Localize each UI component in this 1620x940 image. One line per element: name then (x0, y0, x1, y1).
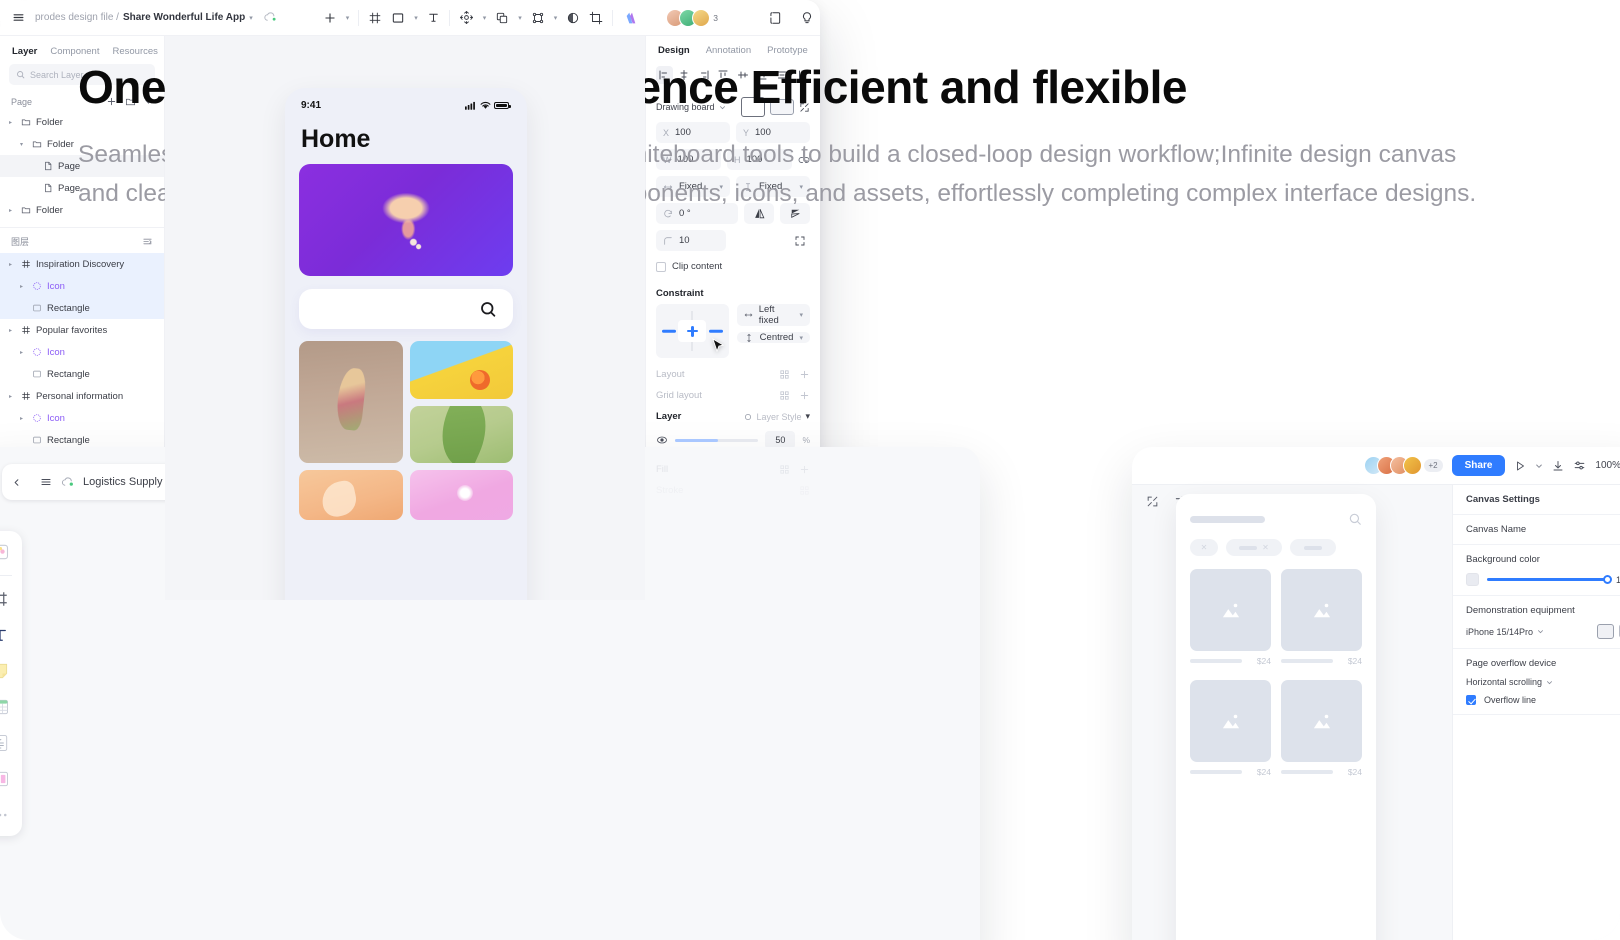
corner-radius-field[interactable]: 10 (656, 230, 726, 251)
chevron-right-icon[interactable]: ▸ (9, 393, 16, 400)
page-icon (43, 183, 53, 193)
page-overflow-label: Page overflow device (1466, 658, 1620, 669)
play-icon[interactable] (1514, 460, 1526, 472)
stroke-label: Stroke (656, 485, 683, 496)
search-icon (1348, 512, 1362, 526)
constraint-vertical-select[interactable]: Centred ▾ (737, 332, 810, 343)
layer-filter-icon[interactable] (142, 236, 153, 247)
text-icon[interactable] (0, 622, 13, 648)
opacity-unit: % (802, 435, 810, 445)
ghost-chip (1290, 539, 1336, 556)
fill-label: Fill (656, 464, 668, 475)
layers-panel-tabs[interactable]: Layer Component Resources (0, 36, 164, 64)
ghost-product-card: $24 (1190, 569, 1271, 670)
fill-row[interactable]: Fill (646, 459, 820, 480)
canvas-name-label: Canvas Name (1466, 524, 1620, 535)
frame-icon (21, 259, 31, 269)
tree-item-label: Rectangle (47, 369, 90, 380)
demonstration-equipment-row: Demonstration equipment iPhone 15/14Pro (1453, 596, 1620, 649)
background-color-row: Background color 100% (1453, 545, 1620, 596)
breadcrumb[interactable]: prodes design file / Share Wonderful Lif… (35, 12, 253, 23)
design-panel-tabs[interactable]: Design Annotation Prototype (646, 36, 820, 64)
chevron-down-icon: ▾ (805, 411, 810, 422)
frame-icon (21, 325, 31, 335)
chevron-down-icon[interactable]: ▾ (554, 14, 558, 22)
photo-tile-peach[interactable] (299, 470, 403, 520)
chevron-down-icon: ▾ (799, 311, 803, 319)
clip-content-row[interactable]: Clip content (646, 257, 820, 280)
tree-item-rectangle[interactable]: Rectangle (0, 297, 164, 319)
search-icon (16, 70, 25, 79)
layers-section-header: 图层 (0, 227, 164, 253)
research-board-toolbar[interactable]: T (0, 531, 22, 836)
overflow-line-checkbox[interactable] (1466, 695, 1476, 705)
device-select[interactable]: iPhone 15/14Pro (1466, 627, 1544, 637)
color-swatch[interactable] (1466, 573, 1479, 586)
expand-icon[interactable] (794, 230, 810, 251)
eye-icon[interactable] (656, 434, 668, 446)
grid-layout-row[interactable]: Grid layout (646, 385, 820, 406)
grid-layout-label: Grid layout (656, 390, 702, 401)
folder-icon (21, 117, 31, 127)
tab-prototype[interactable]: Prototype (767, 45, 808, 56)
text-icon[interactable] (427, 11, 440, 24)
tab-component[interactable]: Component (50, 46, 99, 57)
tree-item-icon[interactable]: ▸Icon (0, 341, 164, 363)
clip-content-label: Clip content (672, 261, 722, 272)
collaborator-count: 3 (713, 13, 718, 23)
component-icon[interactable] (531, 11, 545, 25)
fit-icon[interactable] (1146, 495, 1159, 508)
more-icon[interactable] (0, 802, 13, 828)
ghost-product-grid: $24 $24 $24 $24 (1190, 569, 1362, 777)
layout-label: Layout (656, 369, 685, 380)
chevron-down-icon[interactable]: ▾ (346, 14, 350, 22)
signal-icon (465, 101, 477, 110)
ghost-phone-preview: ✕ ✕ $24 $24 $24 (1176, 494, 1376, 940)
download-icon[interactable] (1552, 460, 1564, 472)
chevron-down-icon: ▾ (799, 334, 803, 342)
battery-icon (494, 102, 509, 110)
layout-row[interactable]: Layout (646, 364, 820, 385)
grid-options-icon[interactable] (779, 390, 790, 401)
add-fill-button[interactable] (799, 464, 810, 475)
canvas-settings-header: Canvas Settings (1453, 485, 1620, 515)
breadcrumb-file: Share Wonderful Life App (123, 12, 245, 23)
corner-radius-value: 10 (679, 235, 690, 246)
ghost-price: $24 (1348, 767, 1362, 777)
boolean-icon[interactable] (495, 11, 509, 25)
tree-item-label: Icon (47, 347, 65, 358)
fill-options-icon[interactable] (779, 464, 790, 475)
collaborator-avatars[interactable]: 3 (666, 9, 718, 27)
opacity-slider[interactable] (675, 439, 758, 442)
demo-equipment-label: Demonstration equipment (1466, 605, 1620, 616)
page-section-label: Page (11, 97, 32, 107)
table-icon[interactable] (0, 694, 13, 720)
chevron-right-icon[interactable]: ▸ (9, 119, 16, 126)
overflow-line-label: Overflow line (1484, 695, 1536, 705)
tree-item-label: Page (58, 161, 80, 172)
layer-style-label: Layer Style (756, 412, 801, 422)
move-icon[interactable] (459, 10, 474, 25)
tree-item-icon[interactable]: ▸Icon (0, 407, 164, 429)
status-time: 9:41 (301, 100, 321, 111)
tree-item-label: Personal information (36, 391, 123, 402)
tree-item-label: Folder (47, 139, 74, 150)
search-layer-placeholder: Search Layer (30, 70, 84, 80)
constraint-h-icon (744, 310, 753, 320)
layout-options-icon[interactable] (779, 369, 790, 380)
avatar[interactable] (1403, 456, 1422, 475)
layer-label: Layer (656, 411, 681, 422)
chevron-down-icon[interactable]: ▾ (414, 14, 418, 22)
constraint-vertical-value: Centred (760, 332, 794, 343)
chevron-down-icon[interactable] (1535, 462, 1543, 470)
rectangle-icon[interactable] (391, 11, 405, 25)
chevron-right-icon[interactable]: ▸ (9, 327, 16, 334)
tree-item-popular-favorites[interactable]: ▸Popular favorites (0, 319, 164, 341)
zoom-level[interactable]: 100% (1595, 460, 1620, 471)
phone-search-bar[interactable] (299, 289, 513, 329)
cloud-sync-icon (61, 477, 74, 488)
icon-icon (32, 281, 42, 291)
clip-content-checkbox[interactable] (656, 262, 666, 272)
portrait-icon[interactable] (1597, 624, 1614, 639)
overflow-mode-select[interactable]: Horizontal scrolling (1466, 677, 1553, 687)
photo-grid (299, 341, 513, 520)
tree-item-label: Rectangle (47, 435, 90, 446)
background-color-label: Background color (1466, 554, 1620, 565)
chevron-down-icon[interactable]: ▾ (20, 141, 27, 148)
design-canvas[interactable]: 9:41 Home (165, 36, 645, 600)
chevron-down-icon (1537, 628, 1544, 635)
folder-icon (21, 205, 31, 215)
overflow-mode-value: Horizontal scrolling (1466, 677, 1542, 687)
design-app-topbar: prodes design file / Share Wonderful Lif… (0, 0, 820, 36)
canvas-settings-panel: Canvas Settings Canvas Name Background c… (1452, 485, 1620, 940)
tree-item-label: Rectangle (47, 303, 90, 314)
ghost-price: $24 (1257, 656, 1271, 666)
ghost-search-row (1190, 512, 1362, 526)
rect-icon (32, 303, 42, 313)
layer-tree[interactable]: ▸Inspiration Discovery▸IconRectangle▸Pop… (0, 253, 164, 451)
tree-item-rectangle[interactable]: Rectangle (0, 363, 164, 385)
stroke-row[interactable]: Stroke (646, 480, 820, 501)
constraint-center-handle[interactable] (678, 320, 706, 342)
bulb-icon[interactable] (800, 11, 814, 25)
chevron-right-icon[interactable]: ▸ (20, 283, 27, 290)
doc-icon[interactable]: T (0, 730, 13, 756)
ghost-price: $24 (1257, 767, 1271, 777)
tree-item-label: Icon (47, 281, 65, 292)
frame-icon[interactable] (0, 586, 13, 612)
layers-section-label: 图层 (11, 235, 29, 248)
canvas-settings-title: Canvas Settings (1466, 494, 1620, 505)
rect-icon (32, 369, 42, 379)
icon-icon (32, 413, 42, 423)
crop-icon[interactable] (589, 11, 603, 25)
folder-icon (32, 139, 42, 149)
search-icon[interactable] (479, 300, 497, 318)
ghost-product-card: $24 (1190, 680, 1271, 777)
ghost-product-card: $24 (1281, 680, 1362, 777)
hamburger-icon[interactable] (12, 11, 25, 24)
chevron-left-icon[interactable] (11, 477, 22, 488)
sticky-note-icon[interactable] (0, 658, 13, 684)
tree-item-label: Popular favorites (36, 325, 107, 336)
tree-item-label: Folder (36, 205, 63, 216)
hero-banner-card[interactable] (299, 164, 513, 276)
layer-style-select[interactable]: Layer Style ▾ (744, 411, 810, 422)
settings-sliders-icon[interactable] (1573, 459, 1586, 472)
add-grid-layout-button[interactable] (799, 390, 810, 401)
plus-icon[interactable] (323, 11, 337, 25)
canvas-name-row[interactable]: Canvas Name (1453, 515, 1620, 545)
tab-annotation[interactable]: Annotation (706, 45, 751, 56)
device-value: iPhone 15/14Pro (1466, 627, 1533, 637)
ghost-price: $24 (1348, 656, 1362, 666)
background-opacity-slider[interactable] (1487, 578, 1608, 581)
pen-ellipse-icon[interactable] (566, 11, 580, 25)
tab-resources[interactable]: Resources (112, 46, 157, 57)
constraint-horizontal-value: Left fixed (759, 304, 794, 326)
photo-tile-flower[interactable] (299, 341, 403, 463)
page-overflow-row: Page overflow device Horizontal scrollin… (1453, 649, 1620, 715)
photo-tile-pink[interactable] (410, 470, 514, 520)
frame-icon[interactable] (368, 11, 382, 25)
phone-heading: Home (301, 125, 513, 154)
layer-row: Layer Layer Style ▾ (646, 406, 820, 427)
tree-item-label: Folder (36, 117, 63, 128)
rect-icon (32, 435, 42, 445)
chevron-down-icon (1546, 679, 1553, 686)
chevron-down-icon[interactable]: ▾ (518, 14, 522, 22)
add-layout-button[interactable] (799, 369, 810, 380)
tree-item-label: Icon (47, 413, 65, 424)
tree-item-icon[interactable]: ▸Icon (0, 275, 164, 297)
ghost-chip: ✕ (1226, 539, 1282, 556)
photo-tile-orange[interactable] (410, 341, 514, 399)
chevron-down-icon[interactable]: ▾ (483, 14, 487, 22)
chevron-right-icon[interactable]: ▸ (20, 415, 27, 422)
circle-icon (744, 413, 752, 421)
chevron-right-icon[interactable]: ▸ (9, 207, 16, 214)
breadcrumb-prefix: prodes design file / (35, 12, 119, 23)
media-icon[interactable] (0, 766, 13, 792)
photo-tile-leaf[interactable] (410, 406, 514, 463)
phone-artboard[interactable]: 9:41 Home (285, 88, 527, 600)
constraint-v-icon (744, 333, 754, 343)
collaborator-avatars[interactable]: +2 (1364, 456, 1443, 475)
avatar[interactable] (692, 9, 710, 27)
canvas-settings-window: +2 Share 100% (1132, 447, 1620, 940)
chevron-down-icon[interactable]: ▾ (249, 14, 253, 22)
tab-design[interactable]: Design (658, 45, 690, 56)
phone-status-bar: 9:41 (299, 100, 513, 111)
chevron-right-icon[interactable]: ▸ (9, 261, 16, 268)
tree-item-personal-information[interactable]: ▸Personal information (0, 385, 164, 407)
avatar-overflow-count[interactable]: +2 (1424, 459, 1443, 472)
ghost-product-card: $24 (1281, 569, 1362, 670)
background-opacity-value: 100% (1616, 575, 1620, 585)
ai-icon[interactable] (622, 10, 638, 26)
page-icon (43, 161, 53, 171)
tab-layer[interactable]: Layer (12, 46, 37, 57)
chevron-right-icon[interactable]: ▸ (20, 349, 27, 356)
tree-item-label: Page (58, 183, 80, 194)
cloud-sync-icon (263, 12, 277, 23)
sticker-icon[interactable] (0, 539, 13, 565)
hamburger-icon[interactable] (40, 476, 52, 488)
ghost-chip: ✕ (1190, 539, 1218, 556)
corner-radius-icon (663, 236, 673, 246)
tree-item-label: Inspiration Discovery (36, 259, 124, 270)
constraint-section-label: Constraint (646, 280, 820, 304)
plugin-icon[interactable] (768, 11, 782, 25)
ghost-filter-chips: ✕ ✕ (1190, 539, 1362, 556)
tree-item-inspiration-discovery[interactable]: ▸Inspiration Discovery (0, 253, 164, 275)
icon-icon (32, 347, 42, 357)
right-window-topbar: +2 Share 100% (1132, 447, 1620, 485)
frame-icon (21, 391, 31, 401)
page-root: One-stop UI design experience Efficient … (0, 0, 1620, 940)
share-button[interactable]: Share (1452, 455, 1506, 476)
wifi-icon (480, 101, 491, 110)
constraint-horizontal-select[interactable]: Left fixed ▾ (737, 304, 810, 326)
jellyfish-image (369, 183, 443, 257)
divider (0, 575, 12, 576)
